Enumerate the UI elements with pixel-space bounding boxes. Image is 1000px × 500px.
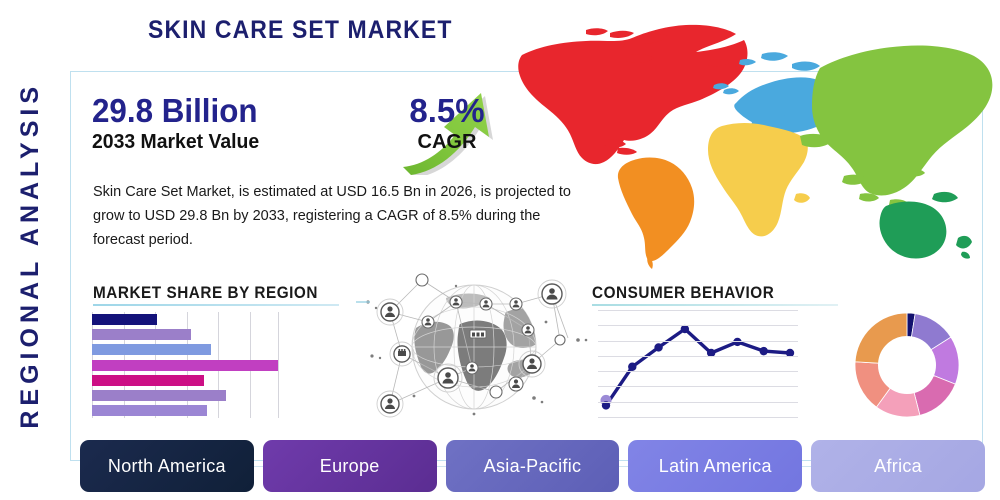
bar-segment <box>92 360 278 371</box>
bar-row <box>92 344 278 355</box>
kpi-cagr: 8.5% CAGR <box>397 92 497 154</box>
line-chart-gridlines <box>598 310 798 418</box>
market-share-bar-chart <box>92 312 278 418</box>
region-chip-label: Africa <box>874 456 922 477</box>
line-gridline <box>598 402 798 403</box>
donut-segment <box>855 313 907 363</box>
donut-segment <box>914 376 955 416</box>
bar-segment <box>92 405 207 416</box>
region-chip-asia-pacific[interactable]: Asia-Pacific <box>446 440 620 492</box>
map-region-asia <box>800 45 992 207</box>
kpi-cagr-label: CAGR <box>397 130 497 154</box>
bar-row <box>92 405 278 416</box>
kpi-market-value-label: 2033 Market Value <box>92 130 261 154</box>
market-share-heading-rule <box>93 304 339 306</box>
map-region-south-america <box>618 158 694 269</box>
chip-connector <box>802 466 811 467</box>
bar-row <box>92 375 278 386</box>
global-network-globe-icon <box>356 268 592 426</box>
line-gridline <box>598 356 798 357</box>
chip-connector <box>437 466 446 467</box>
bar-segment <box>92 375 204 386</box>
market-share-heading: MARKET SHARE BY REGION <box>93 283 318 303</box>
line-gridline <box>598 310 798 311</box>
kpi-cagr-number: 8.5% <box>397 92 497 130</box>
chip-connector <box>254 466 263 467</box>
region-chip-europe[interactable]: Europe <box>263 440 437 492</box>
bar-row <box>92 314 278 325</box>
kpi-market-value-number: 29.8 Billion <box>92 92 258 130</box>
line-gridline <box>598 325 798 326</box>
line-gridline <box>598 371 798 372</box>
bar-segment <box>92 390 226 401</box>
region-chip-label: Asia-Pacific <box>484 456 582 477</box>
kpi-market-value: 29.8 Billion 2033 Market Value <box>92 92 266 154</box>
region-chip-label: North America <box>108 456 226 477</box>
consumer-behavior-line-chart <box>598 310 798 418</box>
vertical-side-label: REGIONAL ANALYSIS <box>0 55 60 455</box>
line-gridline <box>598 417 798 418</box>
bar-segment <box>92 329 191 340</box>
world-map-icon <box>500 8 1000 276</box>
bar-row <box>92 390 278 401</box>
infographic-root: REGIONAL ANALYSIS SKIN CARE SET MARKET 2… <box>0 0 1000 500</box>
region-chip-latin-america[interactable]: Latin America <box>628 440 802 492</box>
line-gridline <box>598 386 798 387</box>
consumer-behavior-heading-rule <box>592 304 838 306</box>
side-label-text: REGIONAL ANALYSIS <box>16 82 45 429</box>
bar-row <box>92 360 278 371</box>
consumer-behavior-donut-chart <box>852 310 962 420</box>
bar-chart-bars <box>92 312 278 418</box>
kpi-row: 29.8 Billion 2033 Market Value 8.5% CAGR <box>92 92 512 172</box>
region-chip-label: Europe <box>320 456 380 477</box>
line-gridline <box>598 341 798 342</box>
chip-connector <box>619 466 628 467</box>
page-title: SKIN CARE SET MARKET <box>148 16 452 45</box>
region-chip-bar: North AmericaEuropeAsia-PacificLatin Ame… <box>80 440 985 492</box>
bar-segment <box>92 344 211 355</box>
region-chip-label: Latin America <box>659 456 772 477</box>
region-chip-africa[interactable]: Africa <box>811 440 985 492</box>
map-region-africa <box>708 123 810 236</box>
bar-row <box>92 329 278 340</box>
bar-segment <box>92 314 157 325</box>
consumer-behavior-heading: CONSUMER BEHAVIOR <box>592 283 774 303</box>
region-chip-north-america[interactable]: North America <box>80 440 254 492</box>
